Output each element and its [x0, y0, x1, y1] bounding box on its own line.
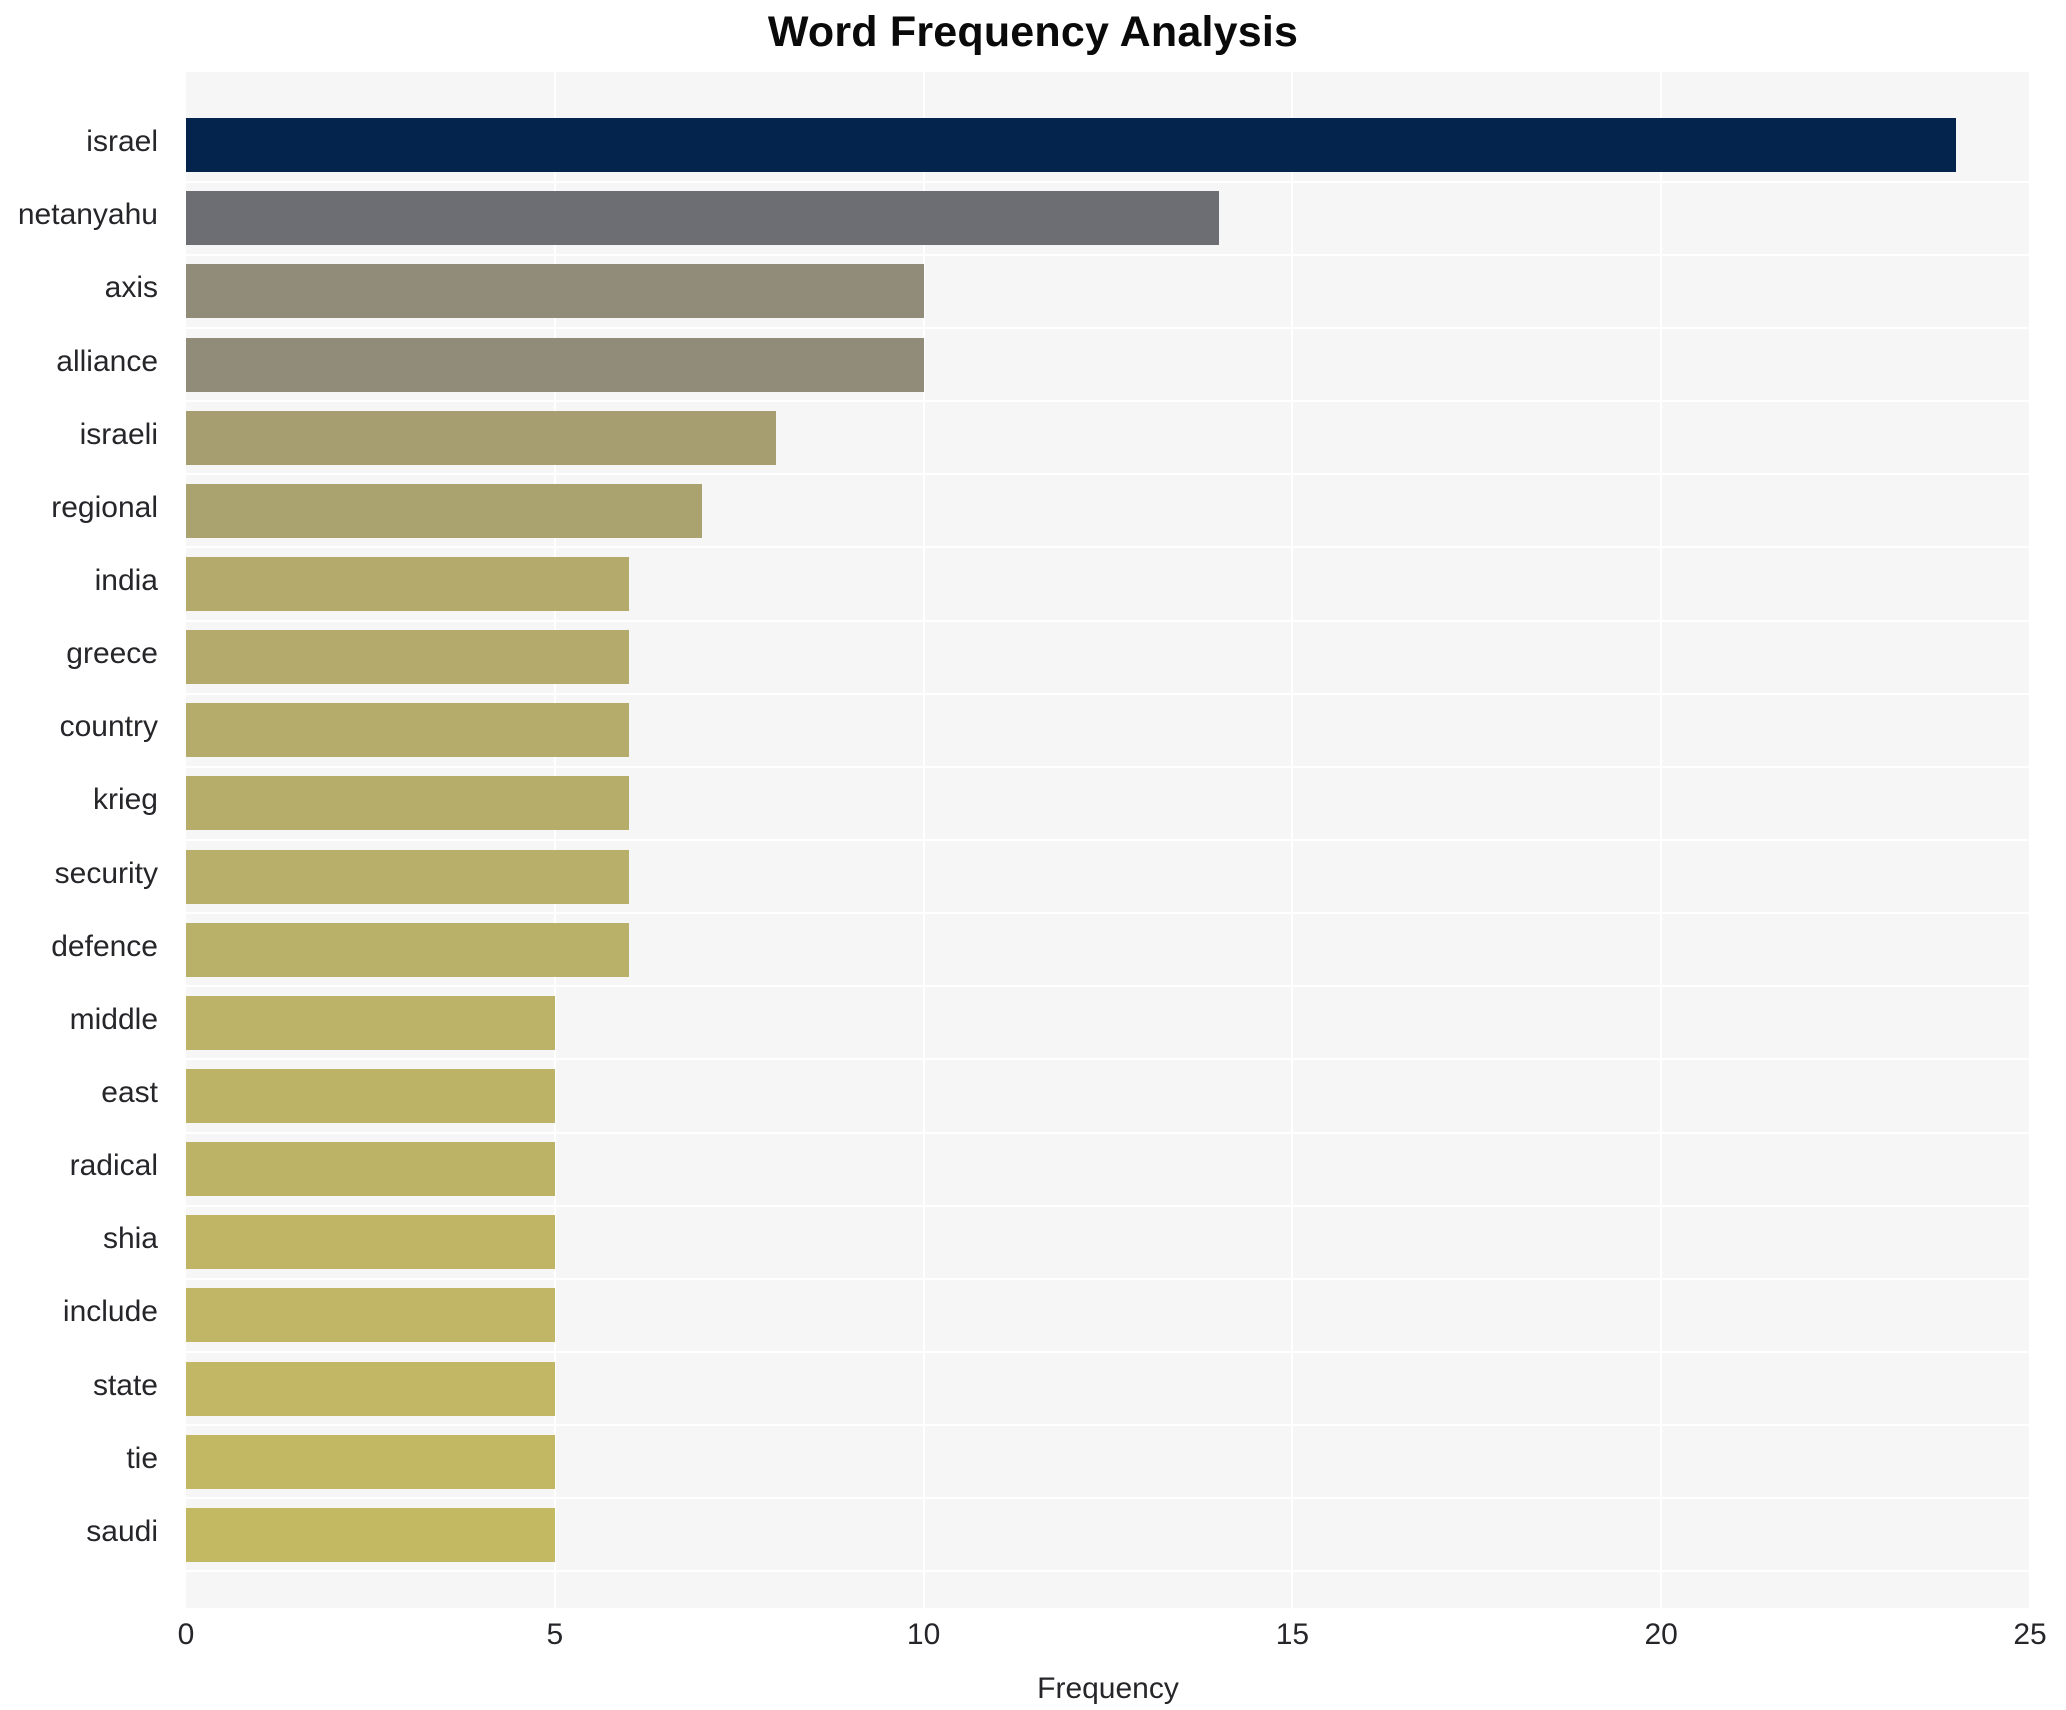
bar[interactable]	[186, 1215, 555, 1269]
bar[interactable]	[186, 557, 629, 611]
word-frequency-chart: Word Frequency Analysis israelnetanyahua…	[0, 0, 2066, 1710]
y-tick-label-tie: tie	[0, 1442, 172, 1476]
bar[interactable]	[186, 776, 629, 830]
y-tick-label-middle: middle	[0, 1003, 172, 1037]
bar[interactable]	[186, 923, 629, 977]
y-tick-label-israeli: israeli	[0, 418, 172, 452]
chart-title: Word Frequency Analysis	[0, 8, 2066, 57]
x-tick-label-0: 0	[178, 1618, 195, 1652]
gridline-horizontal	[186, 473, 2030, 475]
x-axis-title: Frequency	[186, 1672, 2030, 1706]
bar[interactable]	[186, 191, 1219, 245]
y-tick-label-state: state	[0, 1369, 172, 1403]
x-tick-label-15: 15	[1276, 1618, 1309, 1652]
plot-area	[186, 72, 2030, 1608]
gridline-horizontal	[186, 400, 2030, 402]
y-tick-label-israel: israel	[0, 125, 172, 159]
bar[interactable]	[186, 484, 702, 538]
y-tick-label-alliance: alliance	[0, 345, 172, 379]
gridline-horizontal	[186, 693, 2030, 695]
y-tick-label-axis: axis	[0, 271, 172, 305]
bar[interactable]	[186, 1288, 555, 1342]
bar[interactable]	[186, 1362, 555, 1416]
x-tick-label-25: 25	[2013, 1618, 2046, 1652]
y-tick-label-include: include	[0, 1295, 172, 1329]
gridline-horizontal	[186, 912, 2030, 914]
bar[interactable]	[186, 338, 924, 392]
bar[interactable]	[186, 850, 629, 904]
bar[interactable]	[186, 1435, 555, 1489]
bar[interactable]	[186, 264, 924, 318]
gridline-horizontal	[186, 546, 2030, 548]
y-tick-label-security: security	[0, 857, 172, 891]
gridline-horizontal	[186, 327, 2030, 329]
bar[interactable]	[186, 996, 555, 1050]
x-tick-label-20: 20	[1645, 1618, 1678, 1652]
y-tick-label-country: country	[0, 710, 172, 744]
y-tick-label-netanyahu: netanyahu	[0, 198, 172, 232]
y-tick-label-shia: shia	[0, 1222, 172, 1256]
bar[interactable]	[186, 118, 1956, 172]
x-tick-label-5: 5	[546, 1618, 563, 1652]
gridline-horizontal	[186, 1205, 2030, 1207]
gridline-horizontal	[186, 1132, 2030, 1134]
y-tick-label-east: east	[0, 1076, 172, 1110]
bar[interactable]	[186, 1142, 555, 1196]
y-axis-tick-labels: israelnetanyahuaxisallianceisraeliregion…	[0, 72, 172, 1608]
x-tick-label-10: 10	[907, 1618, 940, 1652]
gridline-horizontal	[186, 1497, 2030, 1499]
y-tick-label-saudi: saudi	[0, 1515, 172, 1549]
y-tick-label-india: india	[0, 564, 172, 598]
bar[interactable]	[186, 1069, 555, 1123]
bar[interactable]	[186, 411, 776, 465]
y-tick-label-greece: greece	[0, 637, 172, 671]
y-tick-label-defence: defence	[0, 930, 172, 964]
gridline-horizontal	[186, 839, 2030, 841]
bar[interactable]	[186, 630, 629, 684]
gridline-horizontal	[186, 985, 2030, 987]
bar[interactable]	[186, 703, 629, 757]
gridline-horizontal	[186, 766, 2030, 768]
gridline-horizontal	[186, 1351, 2030, 1353]
gridline-horizontal	[186, 181, 2030, 183]
gridline-horizontal	[186, 1278, 2030, 1280]
x-axis-tick-labels: 0510152025	[0, 1618, 2066, 1666]
gridline-horizontal	[186, 1424, 2030, 1426]
y-tick-label-regional: regional	[0, 491, 172, 525]
gridline-horizontal	[186, 254, 2030, 256]
gridline-horizontal	[186, 620, 2030, 622]
gridline-horizontal	[186, 1058, 2030, 1060]
y-tick-label-krieg: krieg	[0, 783, 172, 817]
bar[interactable]	[186, 1508, 555, 1562]
y-tick-label-radical: radical	[0, 1149, 172, 1183]
gridline-horizontal	[186, 1570, 2030, 1572]
